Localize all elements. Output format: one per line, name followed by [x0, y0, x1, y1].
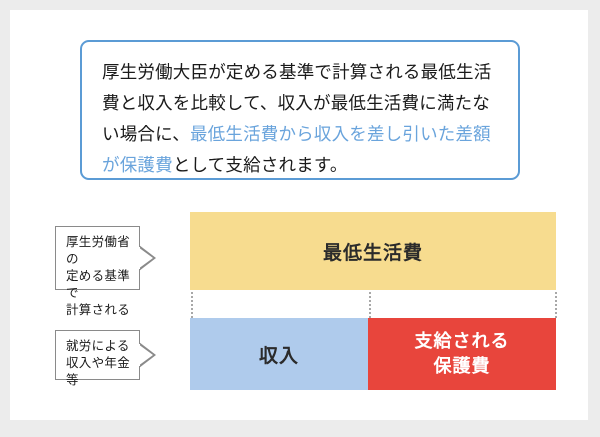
benefit-structure-chart: 最低生活費 収入 支給される保護費 厚生労働省の 定める基準で 計算される 就労… — [10, 10, 588, 420]
bar-minimum-label: 最低生活費 — [323, 238, 423, 265]
arrow-right-icon — [139, 342, 156, 368]
note-standard-text: 厚生労働省の 定める基準で 計算される — [66, 233, 131, 318]
bar-benefit-label-line1: 支給される — [415, 331, 510, 352]
content-panel: 厚生労働大臣が定める基準で計算される最低生活費と収入を比較して、収入が最低生活費… — [10, 10, 588, 420]
arrow-right-icon — [139, 245, 156, 271]
bar-benefit: 支給される保護費 — [368, 318, 556, 390]
note-earnings-text: 就労による 収入や年金等 — [66, 337, 131, 388]
note-standard: 厚生労働省の 定める基準で 計算される — [55, 226, 140, 290]
bar-income: 収入 — [190, 318, 368, 390]
dotted-connector-right — [555, 292, 557, 318]
dotted-connector-middle — [369, 292, 371, 318]
bar-minimum-cost-of-living: 最低生活費 — [190, 212, 556, 290]
dotted-connector-left — [191, 292, 193, 318]
bar-income-label: 収入 — [259, 341, 299, 368]
note-earnings: 就労による 収入や年金等 — [55, 330, 140, 380]
bar-benefit-label: 支給される保護費 — [415, 329, 510, 379]
bar-benefit-label-line2: 保護費 — [434, 356, 491, 377]
